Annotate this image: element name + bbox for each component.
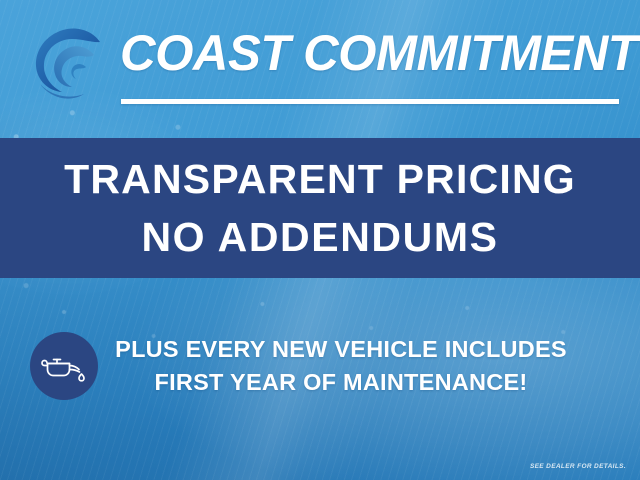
oil-can-icon [30,332,98,400]
headline-line-2: NO ADDENDUMS [141,208,498,266]
promo-row: PLUS EVERY NEW VEHICLE INCLUDES FIRST YE… [0,330,640,402]
promo-text-block: PLUS EVERY NEW VEHICLE INCLUDES FIRST YE… [110,330,572,402]
title-underline-rule [121,99,619,104]
promo-line-2: FIRST YEAR OF MAINTENANCE! [155,366,528,399]
coast-wave-swirl-logo-icon [22,22,114,102]
banner-header: COAST COMMITMENT [0,0,640,138]
headline-band: TRANSPARENT PRICING NO ADDENDUMS [0,138,640,278]
headline-line-1: TRANSPARENT PRICING [64,150,576,208]
promo-line-1: PLUS EVERY NEW VEHICLE INCLUDES [115,333,567,366]
coast-commitment-promo-banner: COAST COMMITMENT TRANSPARENT PRICING NO … [0,0,640,480]
disclaimer-text: SEE DEALER FOR DETAILS. [530,463,626,470]
brand-title: COAST COMMITMENT [120,22,613,84]
